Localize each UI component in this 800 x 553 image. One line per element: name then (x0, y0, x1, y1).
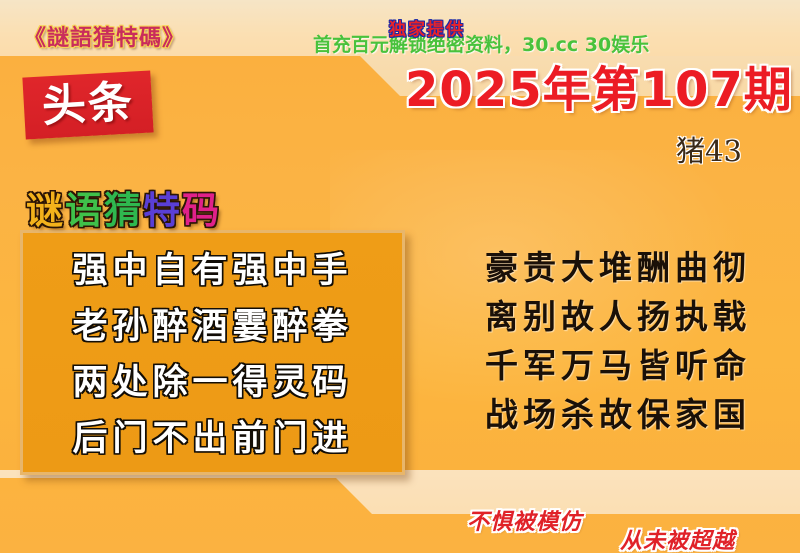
section-title-char-4: 码 (182, 180, 221, 234)
section-title-char-0: 谜 (26, 180, 65, 234)
slogan-left: 不惧被模仿 (467, 504, 582, 536)
riddle-line: 老孙醉酒霎醉拳 (37, 299, 388, 355)
section-title-char-2: 猜 (104, 180, 143, 234)
section-title: 谜语猜特码 (26, 180, 221, 234)
poem-line: 离别故人扬执戟 (448, 292, 788, 341)
slogan-right: 从未被超越 (620, 523, 735, 553)
section-title-char-1: 语 (65, 180, 104, 234)
poem-line: 豪贵大堆酬曲彻 (448, 243, 788, 292)
riddle-box: 强中自有强中手 老孙醉酒霎醉拳 两处除一得灵码 后门不出前门进 (20, 230, 405, 475)
poem-block: 豪贵大堆酬曲彻 离别故人扬执戟 千军万马皆听命 战场杀故保家国 (448, 243, 788, 439)
riddle-line: 强中自有强中手 (37, 243, 388, 299)
zodiac-number: 猪43 (676, 128, 742, 170)
poem-line: 千军万马皆听命 (448, 341, 788, 390)
poster-root: 《謎語猜特碼》 独家提供 首充百元解锁绝密资料，30.cc 30娱乐 2025年… (0, 0, 800, 553)
promo-exclusive-label: 独家提供 (389, 15, 465, 40)
issue-headline: 2025年第107期 (405, 50, 793, 120)
riddle-line: 两处除一得灵码 (37, 355, 388, 411)
poem-line: 战场杀故保家国 (448, 390, 788, 439)
headline-badge: 头条 (22, 70, 153, 139)
traditional-title: 《謎語猜特碼》 (24, 20, 185, 52)
headline-badge-label: 头条 (22, 70, 153, 139)
section-title-char-3: 特 (143, 180, 182, 234)
riddle-line: 后门不出前门进 (37, 411, 388, 467)
